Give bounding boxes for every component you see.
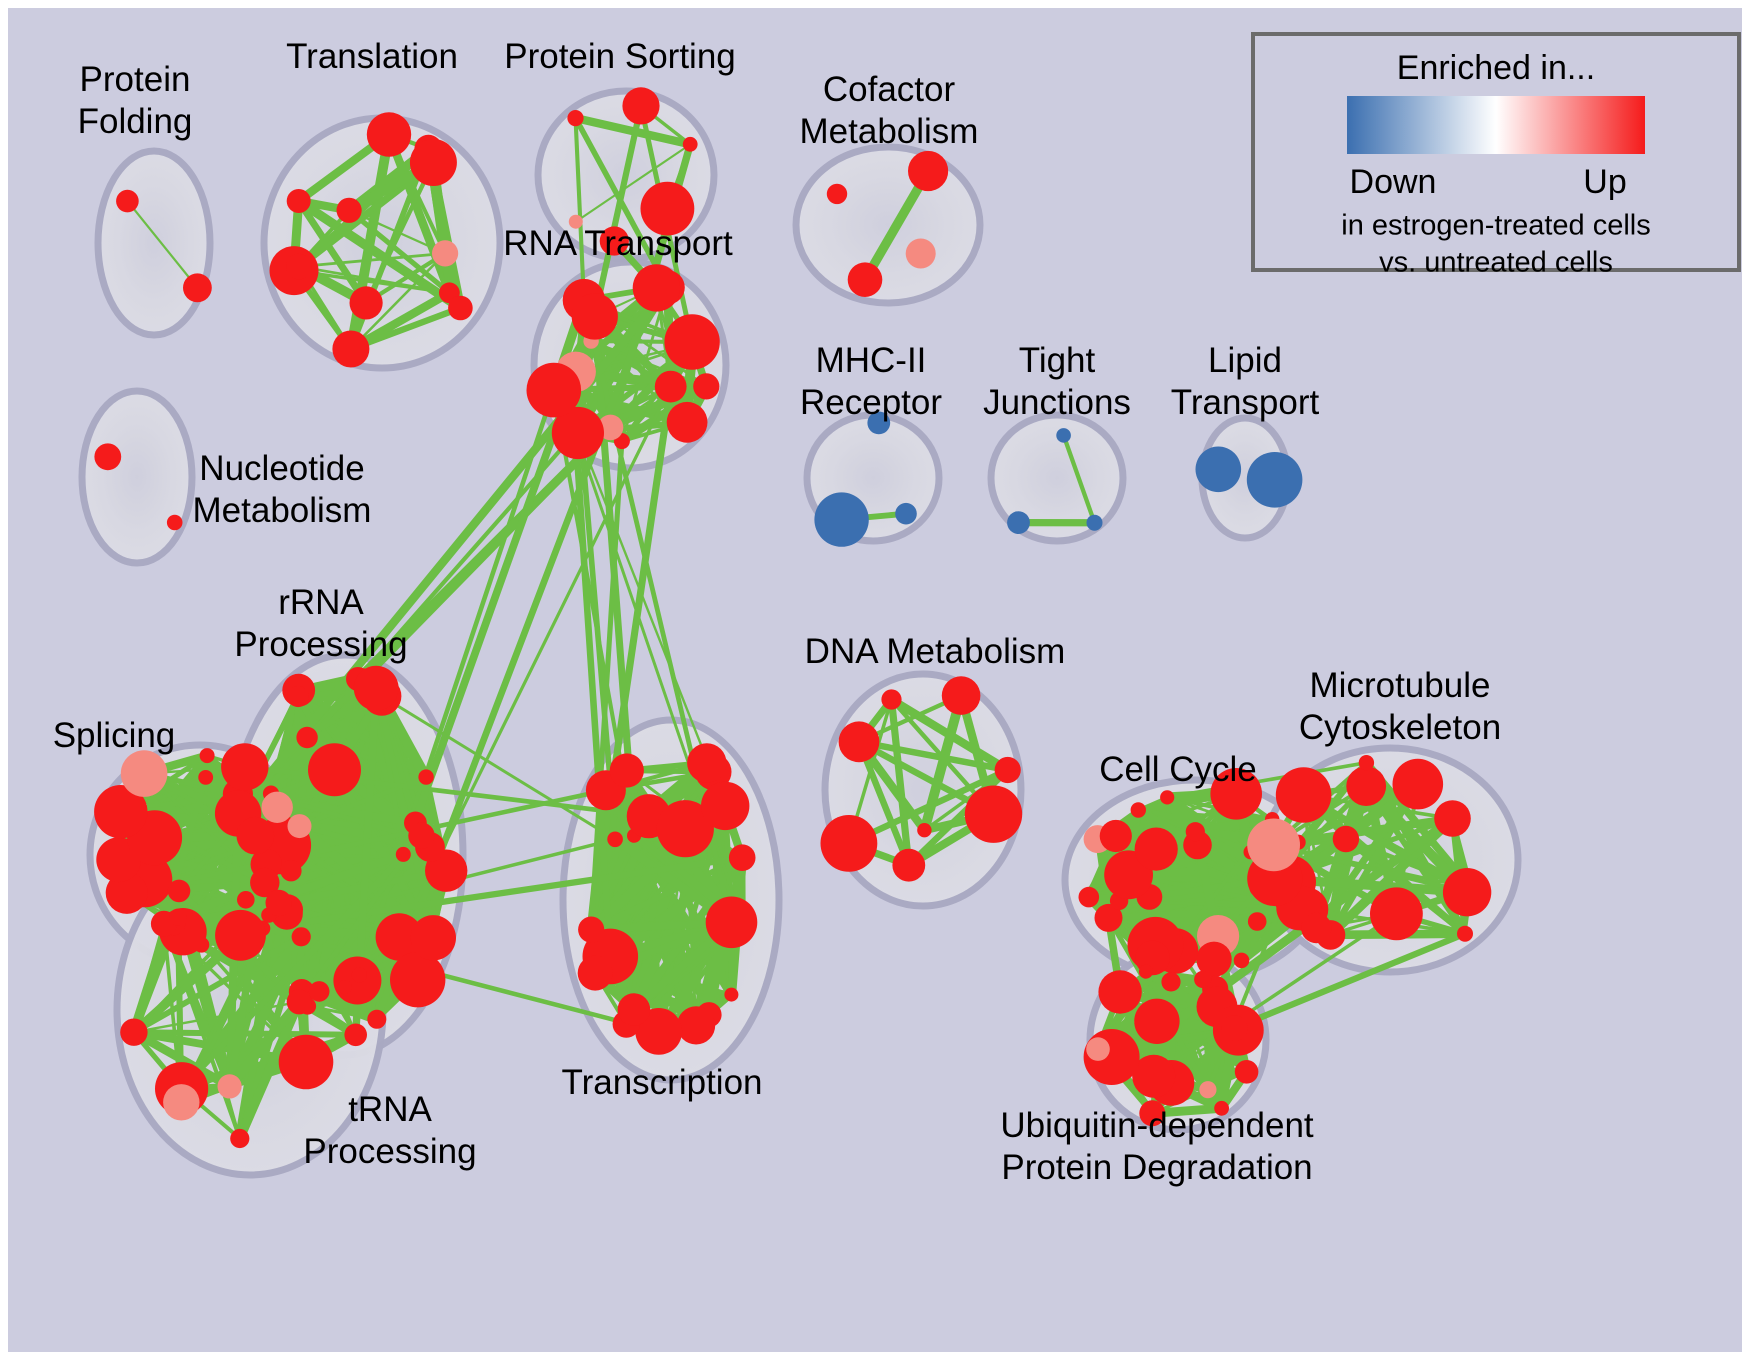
legend-caption-line2: vs. untreated cells xyxy=(1379,247,1613,279)
gene-set-node xyxy=(218,1074,242,1098)
legend-title: Enriched in... xyxy=(1397,49,1595,87)
gene-set-node xyxy=(367,1010,386,1029)
cluster-label-protein-sorting: Protein Sorting xyxy=(504,37,736,76)
gene-set-node xyxy=(881,689,901,709)
cluster-region-nucleotide-metabolism xyxy=(82,391,192,563)
gene-set-node xyxy=(1346,766,1386,806)
gene-set-node xyxy=(1247,819,1300,872)
gene-set-node xyxy=(633,264,680,311)
gene-set-node xyxy=(1235,1060,1259,1084)
gene-set-node xyxy=(1160,790,1174,804)
gene-set-node xyxy=(567,110,583,126)
gene-set-node xyxy=(607,832,623,848)
gene-set-node xyxy=(116,190,139,213)
gene-set-node xyxy=(1186,822,1205,841)
gene-set-node xyxy=(664,314,719,369)
gene-set-node xyxy=(418,769,433,784)
gene-set-node xyxy=(1139,965,1153,979)
gene-set-node xyxy=(167,515,183,531)
gene-set-node xyxy=(729,844,756,871)
gene-set-node xyxy=(839,721,880,762)
gene-set-node xyxy=(1333,826,1359,852)
gene-set-node xyxy=(94,443,121,470)
gene-set-node xyxy=(287,189,311,213)
gene-set-node xyxy=(1194,971,1211,988)
cluster-label-cell-cycle: Cell Cycle xyxy=(1099,750,1257,789)
gene-set-node xyxy=(287,989,312,1014)
gene-set-node xyxy=(1086,1037,1110,1061)
gene-set-node xyxy=(337,198,362,223)
gene-set-node xyxy=(1087,515,1103,531)
gene-set-node xyxy=(352,967,367,982)
gene-set-node xyxy=(308,743,361,796)
gene-set-node xyxy=(1393,759,1444,810)
cluster-label-dna-metabolism: DNA Metabolism xyxy=(805,632,1066,671)
gene-set-node xyxy=(237,891,255,909)
gene-set-node xyxy=(908,151,948,191)
gene-set-node xyxy=(350,286,383,319)
gene-set-node xyxy=(168,880,191,903)
gene-set-node xyxy=(288,686,309,707)
gene-set-node xyxy=(411,915,456,960)
gene-set-node xyxy=(279,1035,334,1090)
gene-set-node xyxy=(1248,912,1267,931)
gene-set-node xyxy=(332,331,369,368)
gene-set-node xyxy=(309,981,330,1002)
enrichment-map-figure: ProteinFoldingTranslationNucleotideMetab… xyxy=(0,0,1750,1360)
gene-set-node xyxy=(1056,428,1071,443)
gene-set-node xyxy=(200,748,215,763)
gene-set-node xyxy=(1301,913,1331,943)
gene-set-node xyxy=(1359,755,1374,770)
gene-set-node xyxy=(1434,800,1471,837)
gene-set-node xyxy=(1161,972,1180,991)
gene-set-node xyxy=(527,363,582,418)
legend-panel: Enriched in...DownUpin estrogen-treated … xyxy=(1253,34,1739,279)
gene-set-node xyxy=(1457,926,1473,942)
gene-set-node xyxy=(821,815,878,872)
gene-set-node xyxy=(906,239,936,269)
legend-color-gradient xyxy=(1347,96,1645,154)
gene-set-node xyxy=(120,1018,147,1045)
gene-set-node xyxy=(183,273,212,302)
gene-set-node xyxy=(1222,1015,1248,1041)
gene-set-node xyxy=(338,980,352,994)
gene-set-node xyxy=(367,112,411,156)
cluster-label-rna-transport: RNA Transport xyxy=(503,224,733,263)
gene-set-node xyxy=(667,402,708,443)
gene-set-node xyxy=(677,1006,715,1044)
gene-set-node xyxy=(410,139,457,186)
gene-set-node xyxy=(572,293,618,339)
network-canvas: ProteinFoldingTranslationNucleotideMetab… xyxy=(0,0,1750,1360)
gene-set-node xyxy=(827,184,847,204)
gene-set-node xyxy=(344,1024,367,1047)
gene-set-node xyxy=(1247,452,1303,508)
gene-set-node xyxy=(1234,953,1250,969)
gene-set-node xyxy=(266,890,292,916)
gene-set-node xyxy=(1196,447,1242,493)
gene-set-node xyxy=(1100,820,1132,852)
gene-set-node xyxy=(622,87,659,124)
gene-set-node xyxy=(814,492,868,546)
gene-set-node xyxy=(578,956,613,991)
cluster-label-translation: Translation xyxy=(286,37,458,76)
gene-set-node xyxy=(221,743,268,790)
gene-set-node xyxy=(448,296,473,321)
gene-set-node xyxy=(610,753,644,787)
gene-set-node xyxy=(687,743,726,782)
gene-set-node xyxy=(1079,887,1100,908)
gene-set-node xyxy=(215,910,266,961)
cluster-label-transcription: Transcription xyxy=(562,1063,763,1102)
gene-set-node xyxy=(942,676,981,715)
cluster-region-cofactor-metabolism xyxy=(796,147,980,303)
gene-set-node xyxy=(693,373,719,399)
gene-set-node xyxy=(965,786,1022,843)
gene-set-node xyxy=(618,993,651,1026)
gene-set-node xyxy=(578,917,604,943)
gene-set-node xyxy=(169,909,186,926)
gene-set-node xyxy=(296,727,317,748)
gene-set-node xyxy=(1443,868,1491,916)
gene-set-node xyxy=(121,750,168,797)
legend-caption-line1: in estrogen-treated cells xyxy=(1341,210,1651,242)
gene-set-node xyxy=(1098,970,1141,1013)
gene-set-node xyxy=(230,1129,249,1148)
gene-set-node xyxy=(655,371,687,403)
gene-set-node xyxy=(848,262,883,297)
gene-set-node xyxy=(280,860,301,881)
gene-set-node xyxy=(1135,828,1178,871)
gene-set-node xyxy=(995,757,1021,783)
gene-set-node xyxy=(286,254,312,280)
gene-set-node xyxy=(1199,1081,1216,1098)
gene-set-node xyxy=(198,770,213,785)
gene-set-node xyxy=(1131,802,1146,817)
legend-low-label: Down xyxy=(1350,163,1437,201)
gene-set-node xyxy=(892,849,925,882)
gene-set-node xyxy=(1007,511,1030,534)
gene-set-node xyxy=(895,503,917,525)
gene-set-node xyxy=(354,666,399,711)
gene-set-node xyxy=(706,897,758,949)
gene-set-node xyxy=(390,952,445,1007)
gene-set-node xyxy=(262,792,293,823)
gene-set-node xyxy=(1276,767,1332,823)
cluster-label-splicing: Splicing xyxy=(53,716,176,755)
legend-high-label: Up xyxy=(1583,163,1626,201)
gene-set-node xyxy=(292,927,311,946)
gene-set-node xyxy=(408,823,434,849)
gene-set-node xyxy=(237,817,275,855)
gene-set-node xyxy=(163,1084,199,1120)
gene-set-node xyxy=(701,782,749,830)
gene-set-node xyxy=(396,847,411,862)
gene-set-node xyxy=(1134,999,1179,1044)
gene-set-node xyxy=(288,814,312,838)
gene-set-node xyxy=(432,240,458,266)
gene-set-node xyxy=(724,988,738,1002)
cluster-region-protein-folding xyxy=(98,151,210,335)
gene-set-node xyxy=(683,137,698,152)
gene-set-node xyxy=(1370,887,1423,940)
gene-set-node xyxy=(917,823,931,837)
